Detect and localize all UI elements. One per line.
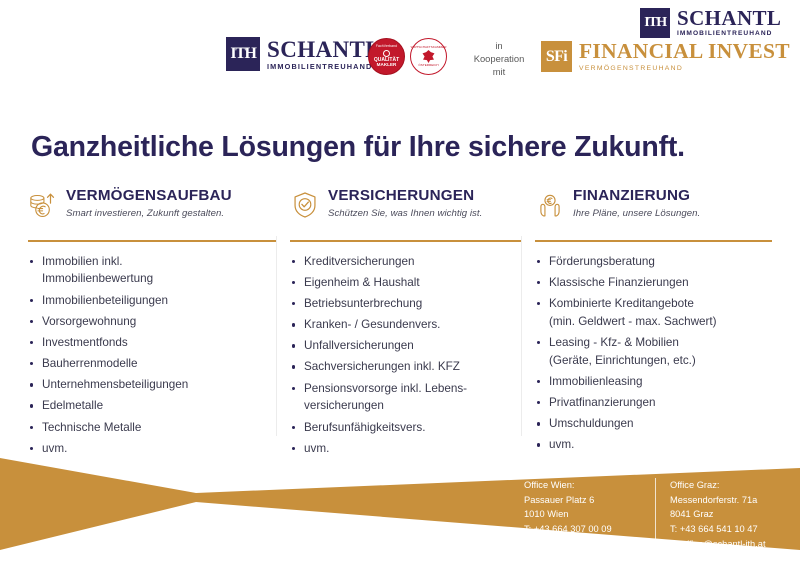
list-item: Edelmetalle <box>28 397 276 415</box>
list-item: Privatfinanzierungen <box>535 394 772 412</box>
ith-monogram-icon: ITH <box>226 37 260 71</box>
office-graz-city: 8041 Graz <box>670 507 766 522</box>
list-item: Förderungsberatung <box>535 253 772 271</box>
certification-seals: FachVerband QUALITÄT MAKLER WIRTSCHAFTSK… <box>368 38 447 75</box>
column-divider <box>535 240 772 242</box>
cooperation-line-2: Kooperation <box>474 53 525 64</box>
list-item: Vorsorgewohnung <box>28 313 276 331</box>
cooperation-line-3: mit <box>493 66 506 77</box>
seal-line2: MAKLER <box>377 63 397 68</box>
list-item: Umschuldungen <box>535 415 772 433</box>
column-title: FINANZIERUNG <box>573 188 700 205</box>
seal-top-text: FachVerband <box>376 45 397 48</box>
list-item: Leasing - Kfz- & Mobilien <box>535 334 772 352</box>
schantl-subtitle: IMMOBILIENTREUHAND <box>267 63 381 70</box>
column-tagline: Ihre Pläne, unsere Lösungen. <box>573 208 700 219</box>
office-graz-block: Office Graz: Messendorferstr. 71a 8041 G… <box>655 478 766 551</box>
column-finanzierung: FINANZIERUNG Ihre Pläne, unsere Lösungen… <box>521 188 772 461</box>
office-wien-street: Passauer Platz 6 <box>524 493 655 508</box>
list-item-continuation: (min. Geldwert - max. Sachwert) <box>535 313 772 331</box>
column-header: VERMÖGENSAUFBAU Smart investieren, Zukun… <box>28 188 276 230</box>
list-item: Investmentfonds <box>28 334 276 352</box>
list-item-continuation: (Geräte, Einrichtungen, etc.) <box>535 352 772 370</box>
office-graz-email[interactable]: E: office@schantl-ith.at <box>670 537 766 552</box>
sfi-subtitle: VERMÖGENSTREUHAND <box>579 66 790 73</box>
poster-page: ITH SCHANTL IMMOBILIENTREUHAND FachVerba… <box>0 0 800 564</box>
list-item: Sachversicherungen inkl. KFZ <box>290 358 521 376</box>
column-versicherungen: VERSICHERUNGEN Schützen Sie, was Ihnen w… <box>276 188 521 461</box>
column-vermoegensaufbau: VERMÖGENSAUFBAU Smart investieren, Zukun… <box>28 188 276 461</box>
schantl-name: SCHANTL <box>267 38 381 61</box>
schantl-wordmark: SCHANTL IMMOBILIENTREUHAND <box>267 38 381 70</box>
column-tagline: Schützen Sie, was Ihnen wichtig ist. <box>328 208 482 219</box>
list-item: Unternehmensbeteiligungen <box>28 376 276 394</box>
column-divider <box>28 240 276 242</box>
office-wien-email[interactable]: E: office@sfi-invest.com <box>524 537 655 552</box>
list-item: Klassische Finanzierungen <box>535 274 772 292</box>
ith-monogram-text: ITH <box>230 46 255 62</box>
sfi-monogram-icon: SFi <box>541 41 572 72</box>
list-item: Kreditversicherungen <box>290 253 521 271</box>
service-list-finanzierung: Förderungsberatung Klassische Finanzieru… <box>535 253 772 455</box>
list-item: Betriebsunterbrechung <box>290 295 521 313</box>
logo-sfi-financial-invest: SFi FINANCIAL INVEST VERMÖGENSTREUHAND <box>541 41 790 72</box>
list-item: Eigenheim & Haushalt <box>290 274 521 292</box>
footer-contacts: Office Wien: Passauer Platz 6 1010 Wien … <box>524 478 766 551</box>
column-title: VERMÖGENSAUFBAU <box>66 188 232 205</box>
list-item: Immobilien inkl. <box>28 253 276 271</box>
list-item: Bauherrenmodelle <box>28 355 276 373</box>
column-header: FINANZIERUNG Ihre Pläne, unsere Lösungen… <box>535 188 772 230</box>
list-item: Immobilienleasing <box>535 373 772 391</box>
list-item-continuation: versicherungen <box>290 397 521 415</box>
ith-monogram-icon: ITH <box>640 8 670 38</box>
list-item: Pensionsvorsorge inkl. Lebens- <box>290 380 521 398</box>
column-tagline: Smart investieren, Zukunft gestalten. <box>66 208 232 219</box>
list-item: Technische Metalle <box>28 419 276 437</box>
ith-monogram-text: ITH <box>644 16 665 30</box>
shield-check-icon <box>290 190 320 220</box>
hands-holding-coin-icon <box>535 190 565 220</box>
list-item: Immobilienbeteiligungen <box>28 292 276 310</box>
office-graz-phone[interactable]: T: +43 664 541 10 47 <box>670 522 766 537</box>
logo-bar: ITH SCHANTL IMMOBILIENTREUHAND FachVerba… <box>0 0 800 100</box>
list-item: Kombinierte Kreditangebote <box>535 295 772 313</box>
sfi-name: FINANCIAL INVEST <box>579 41 790 63</box>
seal-bottom-text: ÖSTERREICH <box>418 64 438 67</box>
list-item: Unfallversicherungen <box>290 337 521 355</box>
sfi-monogram-text: SFi <box>546 49 567 65</box>
list-item: Berufsunfähigkeitsvers. <box>290 419 521 437</box>
column-header-text: FINANZIERUNG Ihre Pläne, unsere Lösungen… <box>573 188 700 219</box>
sfi-wordmark: FINANCIAL INVEST VERMÖGENSTREUHAND <box>579 41 790 72</box>
service-list-versicherungen: Kreditversicherungen Eigenheim & Haushal… <box>290 253 521 458</box>
list-item: Kranken- / Gesundenvers. <box>290 316 521 334</box>
column-divider <box>290 240 521 242</box>
office-wien-phone[interactable]: T: +43 664 307 00 09 <box>524 522 655 537</box>
footer: Office Wien: Passauer Platz 6 1010 Wien … <box>0 440 800 564</box>
office-wien-city: 1010 Wien <box>524 507 655 522</box>
office-wien-title: Office Wien: <box>524 478 655 493</box>
schantl-wordmark: SCHANTL IMMOBILIENTREUHAND <box>677 8 781 38</box>
office-graz-street: Messendorferstr. 71a <box>670 493 766 508</box>
list-item-continuation: Immobilienbewertung <box>28 270 276 288</box>
office-graz-title: Office Graz: <box>670 478 766 493</box>
austria-eagle-icon <box>422 50 435 63</box>
page-headline: Ganzheitliche Lösungen für Ihre sichere … <box>31 131 685 164</box>
column-header-text: VERSICHERUNGEN Schützen Sie, was Ihnen w… <box>328 188 482 219</box>
cooperation-note: in Kooperation mit <box>466 40 532 79</box>
column-header-text: VERMÖGENSAUFBAU Smart investieren, Zukun… <box>66 188 232 219</box>
column-title: VERSICHERUNGEN <box>328 188 482 205</box>
austria-wappen-seal: WIRTSCHAFTSKAMMER ÖSTERREICH <box>410 38 447 75</box>
logo-schantl-immobilientreuhand-duplicate: ITH SCHANTL IMMOBILIENTREUHAND <box>640 8 781 38</box>
service-columns: VERMÖGENSAUFBAU Smart investieren, Zukun… <box>28 188 772 461</box>
service-list-vermoegensaufbau: Immobilien inkl. Immobilienbewertung Imm… <box>28 253 276 458</box>
seal-top-text: WIRTSCHAFTSKAMMER <box>411 46 447 49</box>
seal-ring-icon <box>383 50 390 57</box>
schantl-name: SCHANTL <box>677 8 781 29</box>
schantl-subtitle: IMMOBILIENTREUHAND <box>677 31 781 38</box>
column-header: VERSICHERUNGEN Schützen Sie, was Ihnen w… <box>290 188 521 230</box>
qualitaet-makler-seal: FachVerband QUALITÄT MAKLER <box>368 38 405 75</box>
logo-schantl-immobilientreuhand: ITH SCHANTL IMMOBILIENTREUHAND <box>226 37 381 71</box>
cooperation-line-1: in <box>495 40 502 51</box>
coins-euro-growth-icon <box>28 190 58 220</box>
office-wien-block: Office Wien: Passauer Platz 6 1010 Wien … <box>524 478 655 551</box>
